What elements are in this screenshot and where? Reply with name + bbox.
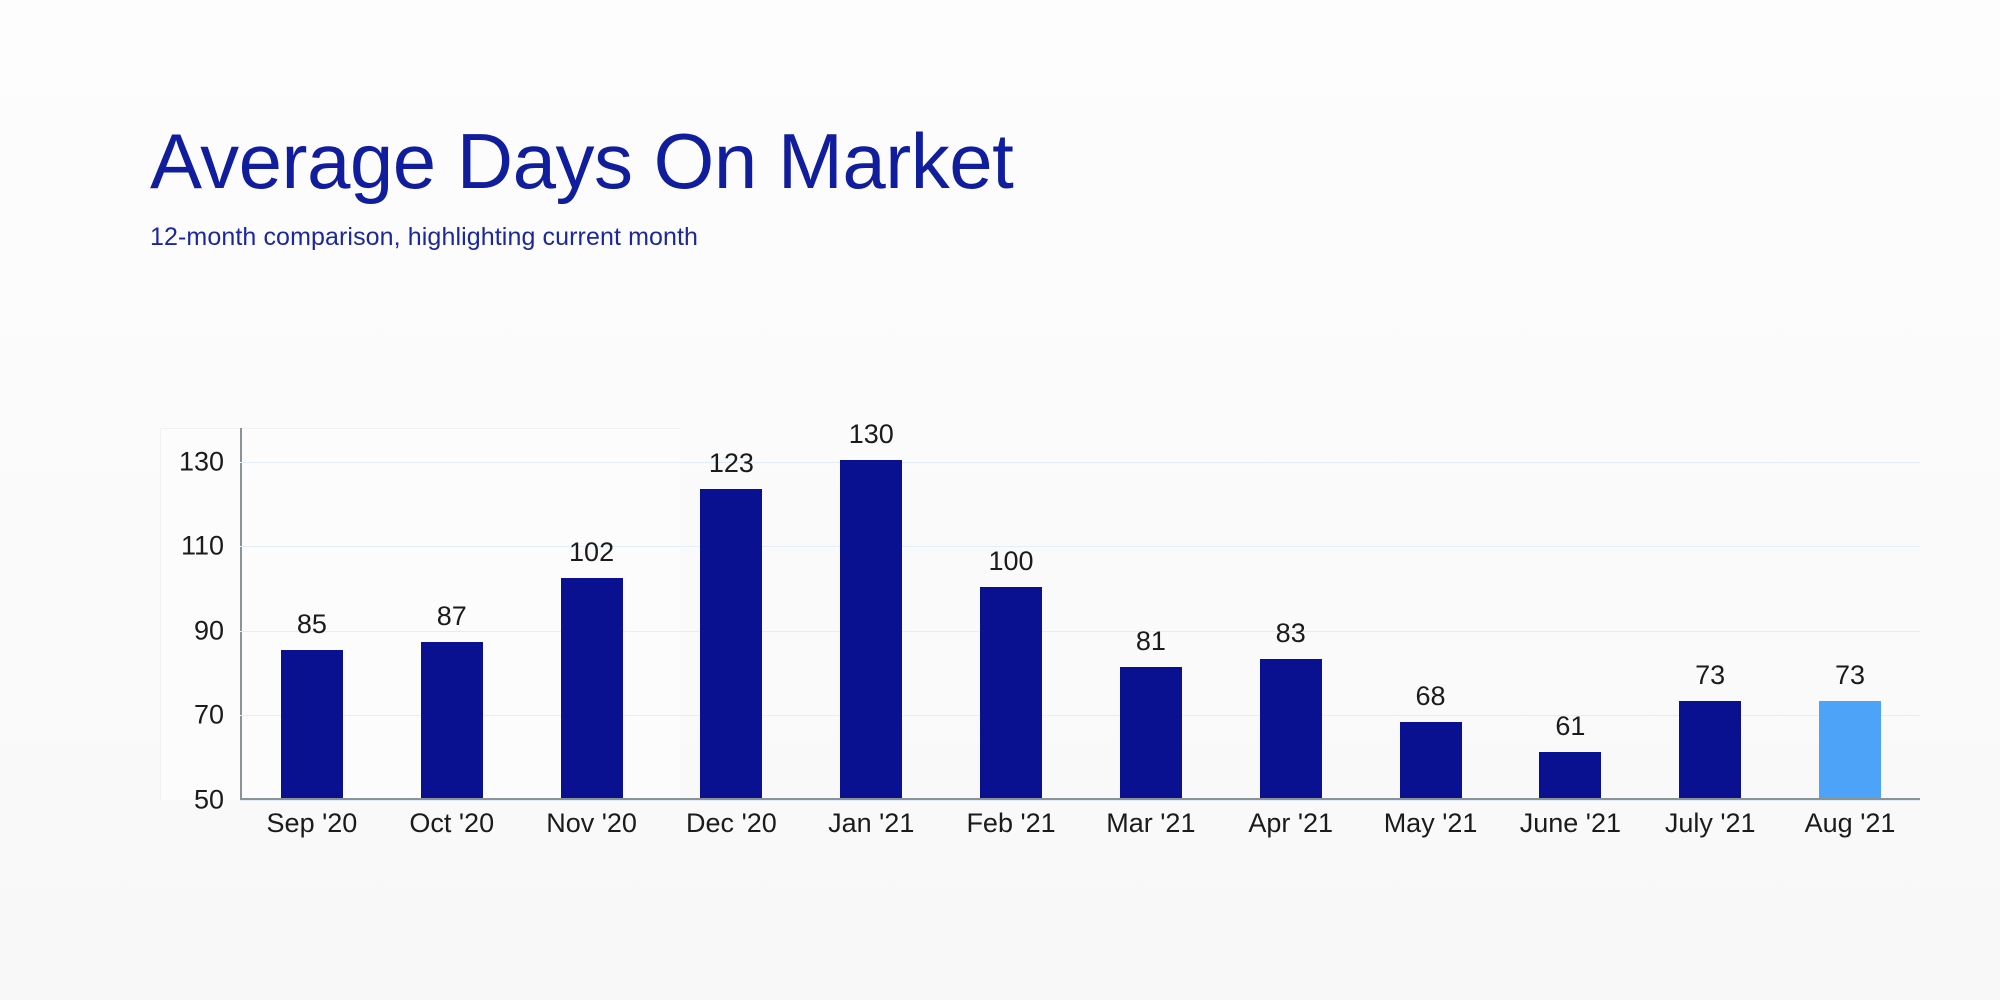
- bar-slot: 81: [1081, 428, 1221, 798]
- y-axis-tick-label: 70: [194, 700, 224, 731]
- plot-area: 507090110130 858710212313010081836861737…: [240, 428, 1920, 800]
- bar-slot: 73: [1640, 428, 1780, 798]
- bar-value-label: 130: [849, 419, 894, 450]
- bar-value-label: 85: [297, 609, 327, 640]
- x-axis-tick-label: Jan '21: [801, 808, 941, 839]
- page-title: Average Days On Market: [150, 118, 1650, 204]
- x-axis-tick-label: July '21: [1640, 808, 1780, 839]
- x-axis-tick-label: Dec '20: [661, 808, 801, 839]
- bar[interactable]: [561, 578, 623, 798]
- x-axis-tick-label: Feb '21: [941, 808, 1081, 839]
- bar-value-label: 81: [1136, 626, 1166, 657]
- bar-value-label: 68: [1416, 681, 1446, 712]
- x-axis-tick-label: May '21: [1361, 808, 1501, 839]
- bar-slot: 123: [661, 428, 801, 798]
- y-axis-tick-label: 50: [194, 785, 224, 816]
- bar-value-label: 61: [1555, 711, 1585, 742]
- x-axis-tick-label: Aug '21: [1780, 808, 1920, 839]
- page-subtitle: 12-month comparison, highlighting curren…: [150, 222, 1650, 252]
- gridline: [240, 800, 1920, 801]
- bar-slot: 100: [941, 428, 1081, 798]
- bar-value-label: 87: [437, 601, 467, 632]
- bar-value-label: 83: [1276, 618, 1306, 649]
- bar-value-label: 100: [989, 546, 1034, 577]
- bar-slot: 61: [1500, 428, 1640, 798]
- bar[interactable]: [421, 642, 483, 798]
- bar[interactable]: [700, 489, 762, 798]
- x-axis-tick-label: Nov '20: [522, 808, 662, 839]
- bar-highlighted[interactable]: [1819, 701, 1881, 798]
- bar[interactable]: [1539, 752, 1601, 799]
- bar[interactable]: [980, 587, 1042, 798]
- y-axis-tick-label: 90: [194, 615, 224, 646]
- bar[interactable]: [1260, 659, 1322, 799]
- x-axis-tick-label: Oct '20: [382, 808, 522, 839]
- y-axis-tick-label: 130: [179, 446, 224, 477]
- x-axis-tick-label: Mar '21: [1081, 808, 1221, 839]
- bar[interactable]: [1120, 667, 1182, 798]
- x-axis-tick-label: Sep '20: [242, 808, 382, 839]
- x-axis-tick-label: June '21: [1500, 808, 1640, 839]
- x-axis-ticks: Sep '20Oct '20Nov '20Dec '20Jan '21Feb '…: [242, 808, 1920, 839]
- bar-value-label: 102: [569, 537, 614, 568]
- bar-value-label: 73: [1695, 660, 1725, 691]
- bar-chart: 507090110130 858710212313010081836861737…: [160, 428, 1920, 828]
- slide-root: Average Days On Market 12-month comparis…: [0, 0, 2000, 1000]
- bar-slot: 102: [522, 428, 662, 798]
- bar-slot: 85: [242, 428, 382, 798]
- x-axis-tick-label: Apr '21: [1221, 808, 1361, 839]
- bar-slot: 73: [1780, 428, 1920, 798]
- bar-value-label: 73: [1835, 660, 1865, 691]
- bar[interactable]: [1400, 722, 1462, 798]
- bar-value-label: 123: [709, 448, 754, 479]
- chart-header: Average Days On Market 12-month comparis…: [150, 118, 1650, 252]
- bar-slot: 83: [1221, 428, 1361, 798]
- bar-slot: 87: [382, 428, 522, 798]
- bar-slot: 68: [1361, 428, 1501, 798]
- bar[interactable]: [281, 650, 343, 798]
- bar[interactable]: [1679, 701, 1741, 798]
- bar-slot: 130: [801, 428, 941, 798]
- y-axis-tick-label: 110: [181, 531, 224, 562]
- bar[interactable]: [840, 460, 902, 798]
- bar-series: 8587102123130100818368617373: [242, 428, 1920, 798]
